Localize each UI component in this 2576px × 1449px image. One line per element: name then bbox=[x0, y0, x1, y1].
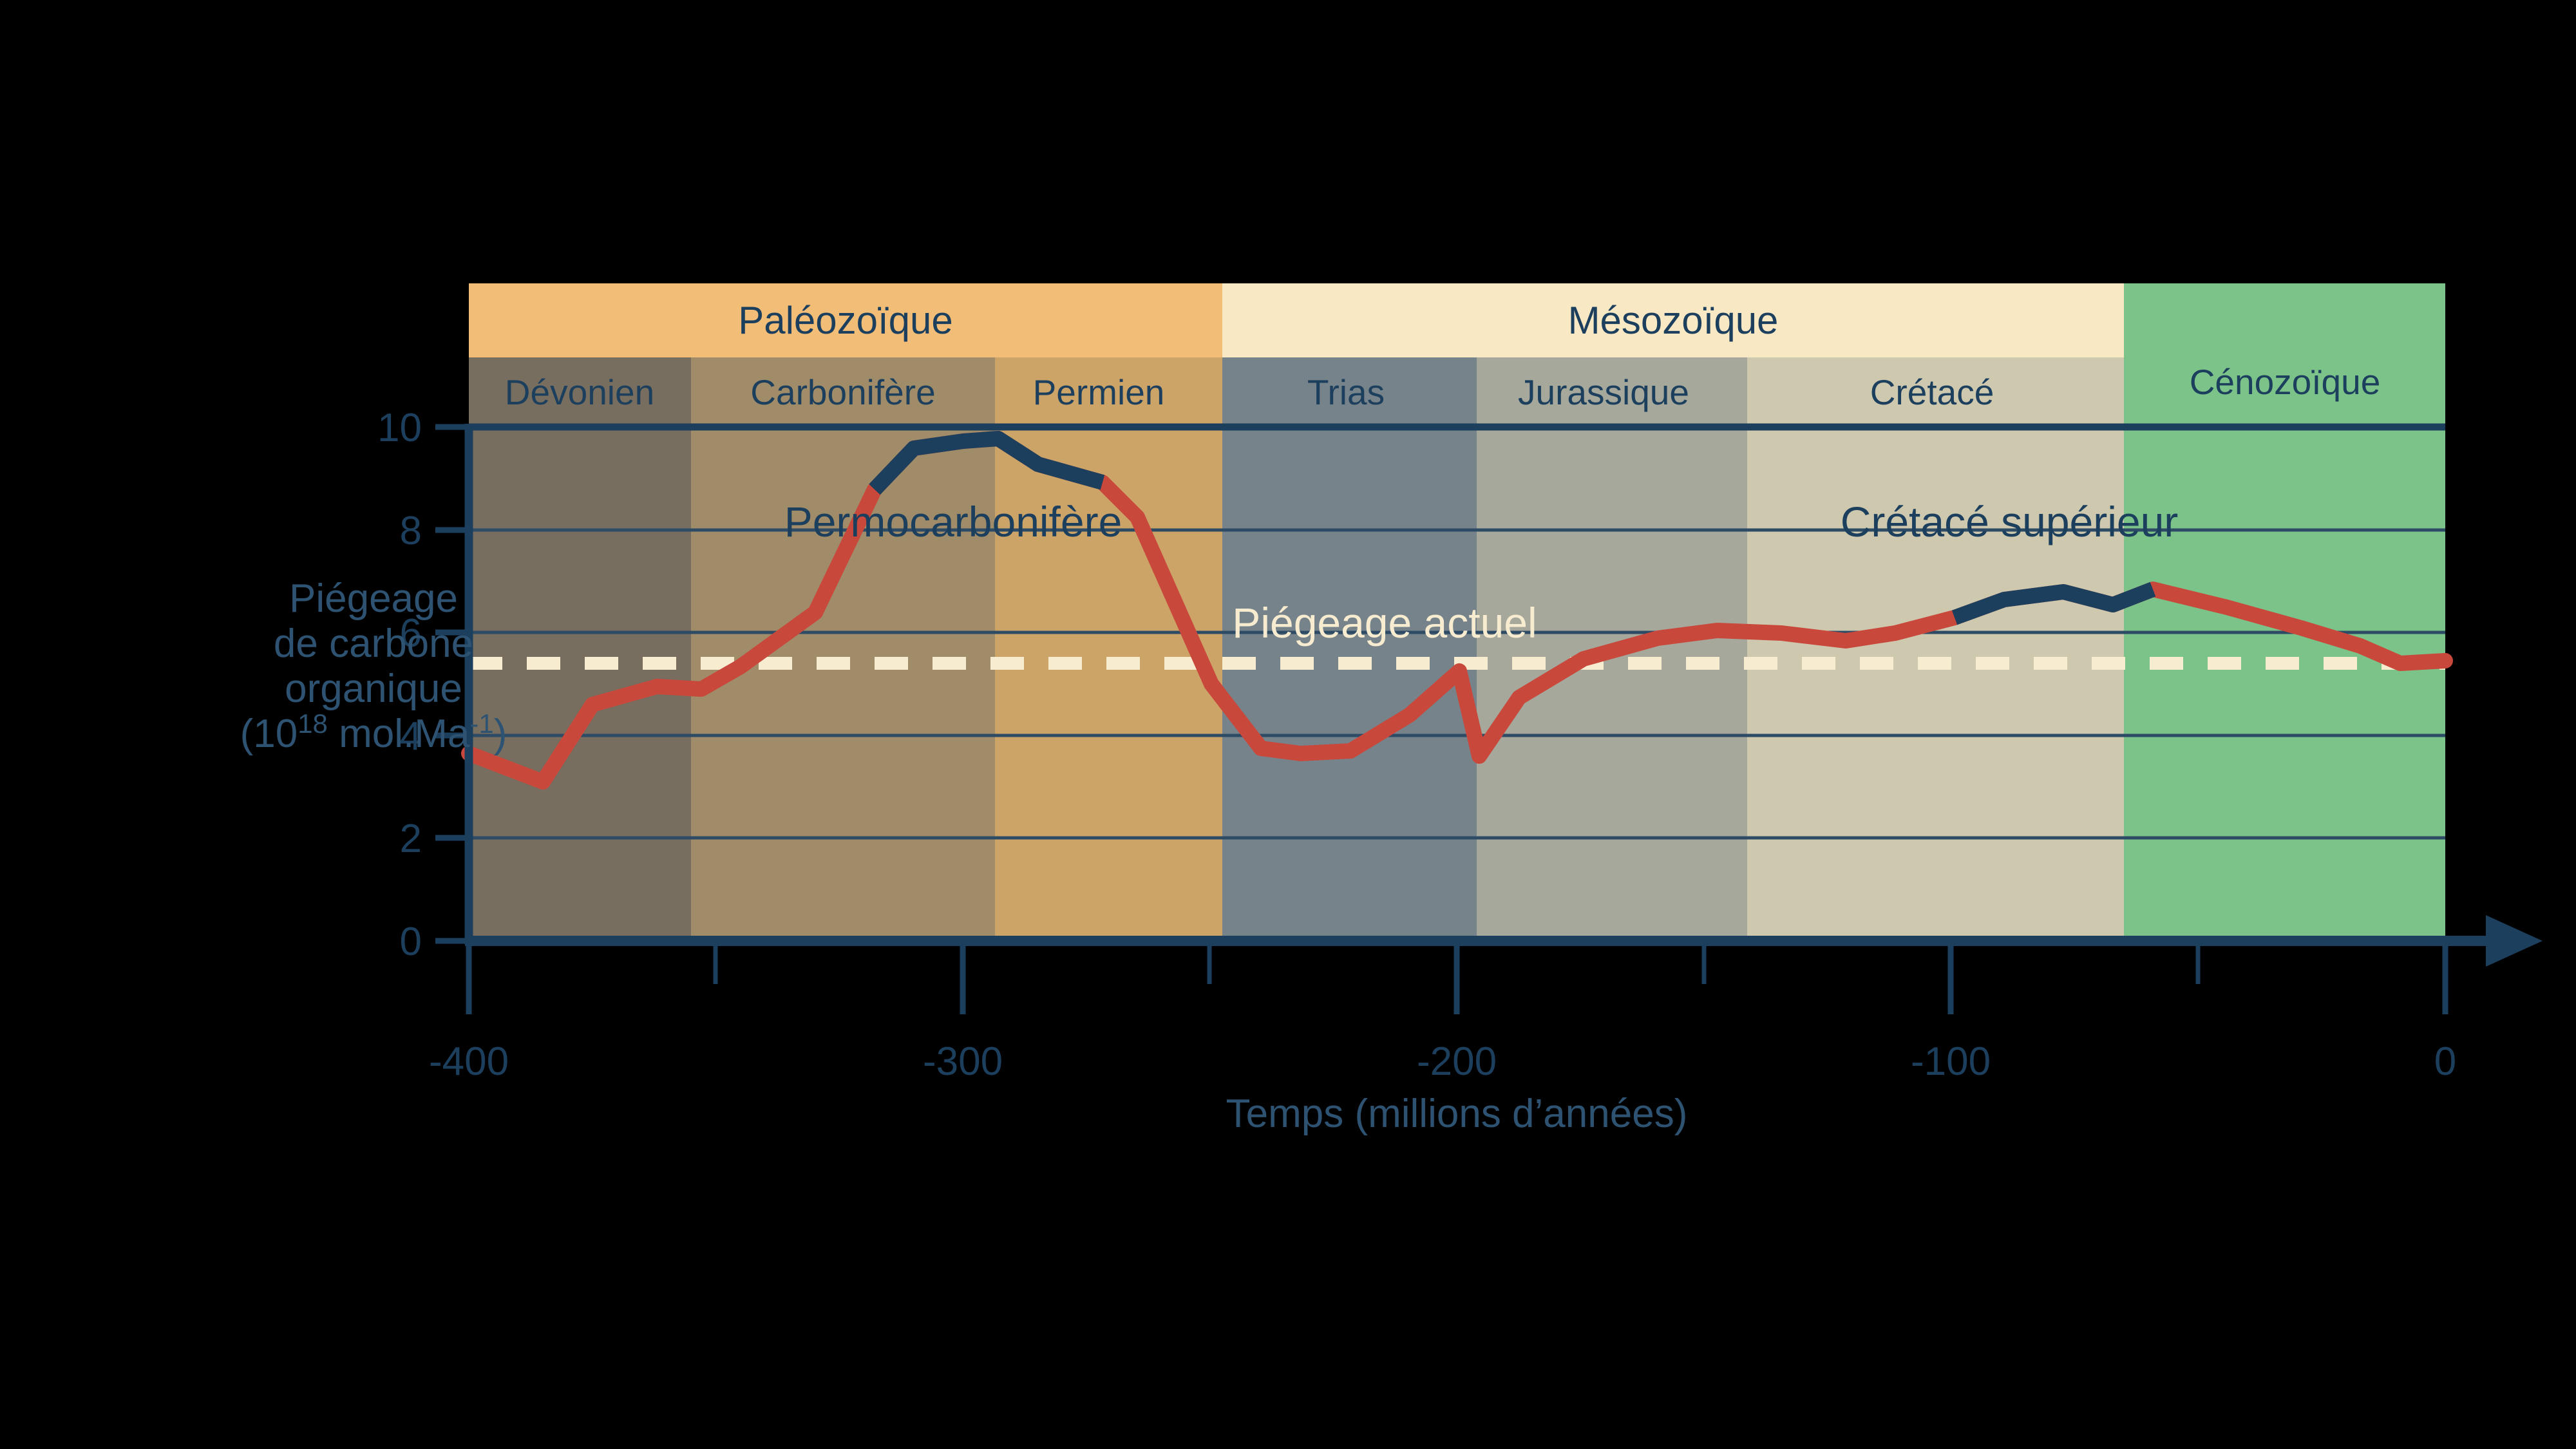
era-band-cenozoique bbox=[2124, 283, 2445, 357]
y-tick-label-10: 10 bbox=[377, 406, 422, 450]
annotation-piegeage-actuel: Piégeage actuel bbox=[1232, 599, 1537, 647]
y-unit-exp-18: 18 bbox=[298, 708, 328, 739]
period-label-devonien: Dévonien bbox=[505, 372, 654, 412]
y-unit-exp-minus1: -1 bbox=[469, 708, 493, 739]
y-axis-title-line3: organique bbox=[285, 667, 462, 711]
era-label-paleozoique: Paléozoïque bbox=[738, 299, 953, 342]
y-axis-title-line1: Piégeage bbox=[289, 576, 458, 621]
x-axis-title: Temps (millions d’années) bbox=[1226, 1092, 1688, 1136]
x-tick-label-300: -300 bbox=[923, 1039, 1003, 1084]
period-label-trias: Trias bbox=[1307, 372, 1385, 412]
era-label-mesozoique: Mésozoïque bbox=[1568, 299, 1779, 342]
period-label-jurassique: Jurassique bbox=[1518, 372, 1689, 412]
y-tick-label-2: 2 bbox=[400, 817, 422, 861]
y-tick-label-8: 8 bbox=[400, 509, 422, 553]
y-axis-title-line4: (1018 mol.Ma-1) bbox=[240, 708, 507, 756]
x-tick-label-0: 0 bbox=[2434, 1039, 2456, 1084]
y-unit-open: (10 bbox=[240, 712, 298, 756]
y-unit-close: ) bbox=[494, 712, 507, 756]
x-tick-label-100: -100 bbox=[1911, 1039, 1991, 1084]
period-label-cenozoique: Cénozoïque bbox=[2190, 362, 2381, 402]
carbon-burial-chart: Paléozoïque Mésozoïque Dévonien Carbonif… bbox=[0, 0, 2576, 1449]
x-tick-label-200: -200 bbox=[1417, 1039, 1497, 1084]
y-tick-label-0: 0 bbox=[400, 920, 422, 964]
plot-bg-jurassique bbox=[1477, 427, 1747, 941]
annotation-permocarbonifere: Permocarbonifère bbox=[784, 498, 1122, 545]
y-unit-mol: mol.Ma bbox=[328, 712, 470, 756]
annotation-cretace-superieur: Crétacé supérieur bbox=[1841, 498, 2179, 545]
period-band-row: Dévonien Carbonifère Permien Trias Juras… bbox=[469, 357, 2445, 427]
period-label-cretace: Crétacé bbox=[1870, 372, 1994, 412]
period-label-permien: Permien bbox=[1033, 372, 1165, 412]
era-band-row: Paléozoïque Mésozoïque bbox=[469, 283, 2445, 357]
period-label-carbonifere: Carbonifère bbox=[750, 372, 935, 412]
y-axis-title-line2: de carbone bbox=[274, 621, 473, 666]
chart-figure: Paléozoïque Mésozoïque Dévonien Carbonif… bbox=[0, 0, 2576, 1449]
x-tick-label-400: -400 bbox=[429, 1039, 509, 1084]
